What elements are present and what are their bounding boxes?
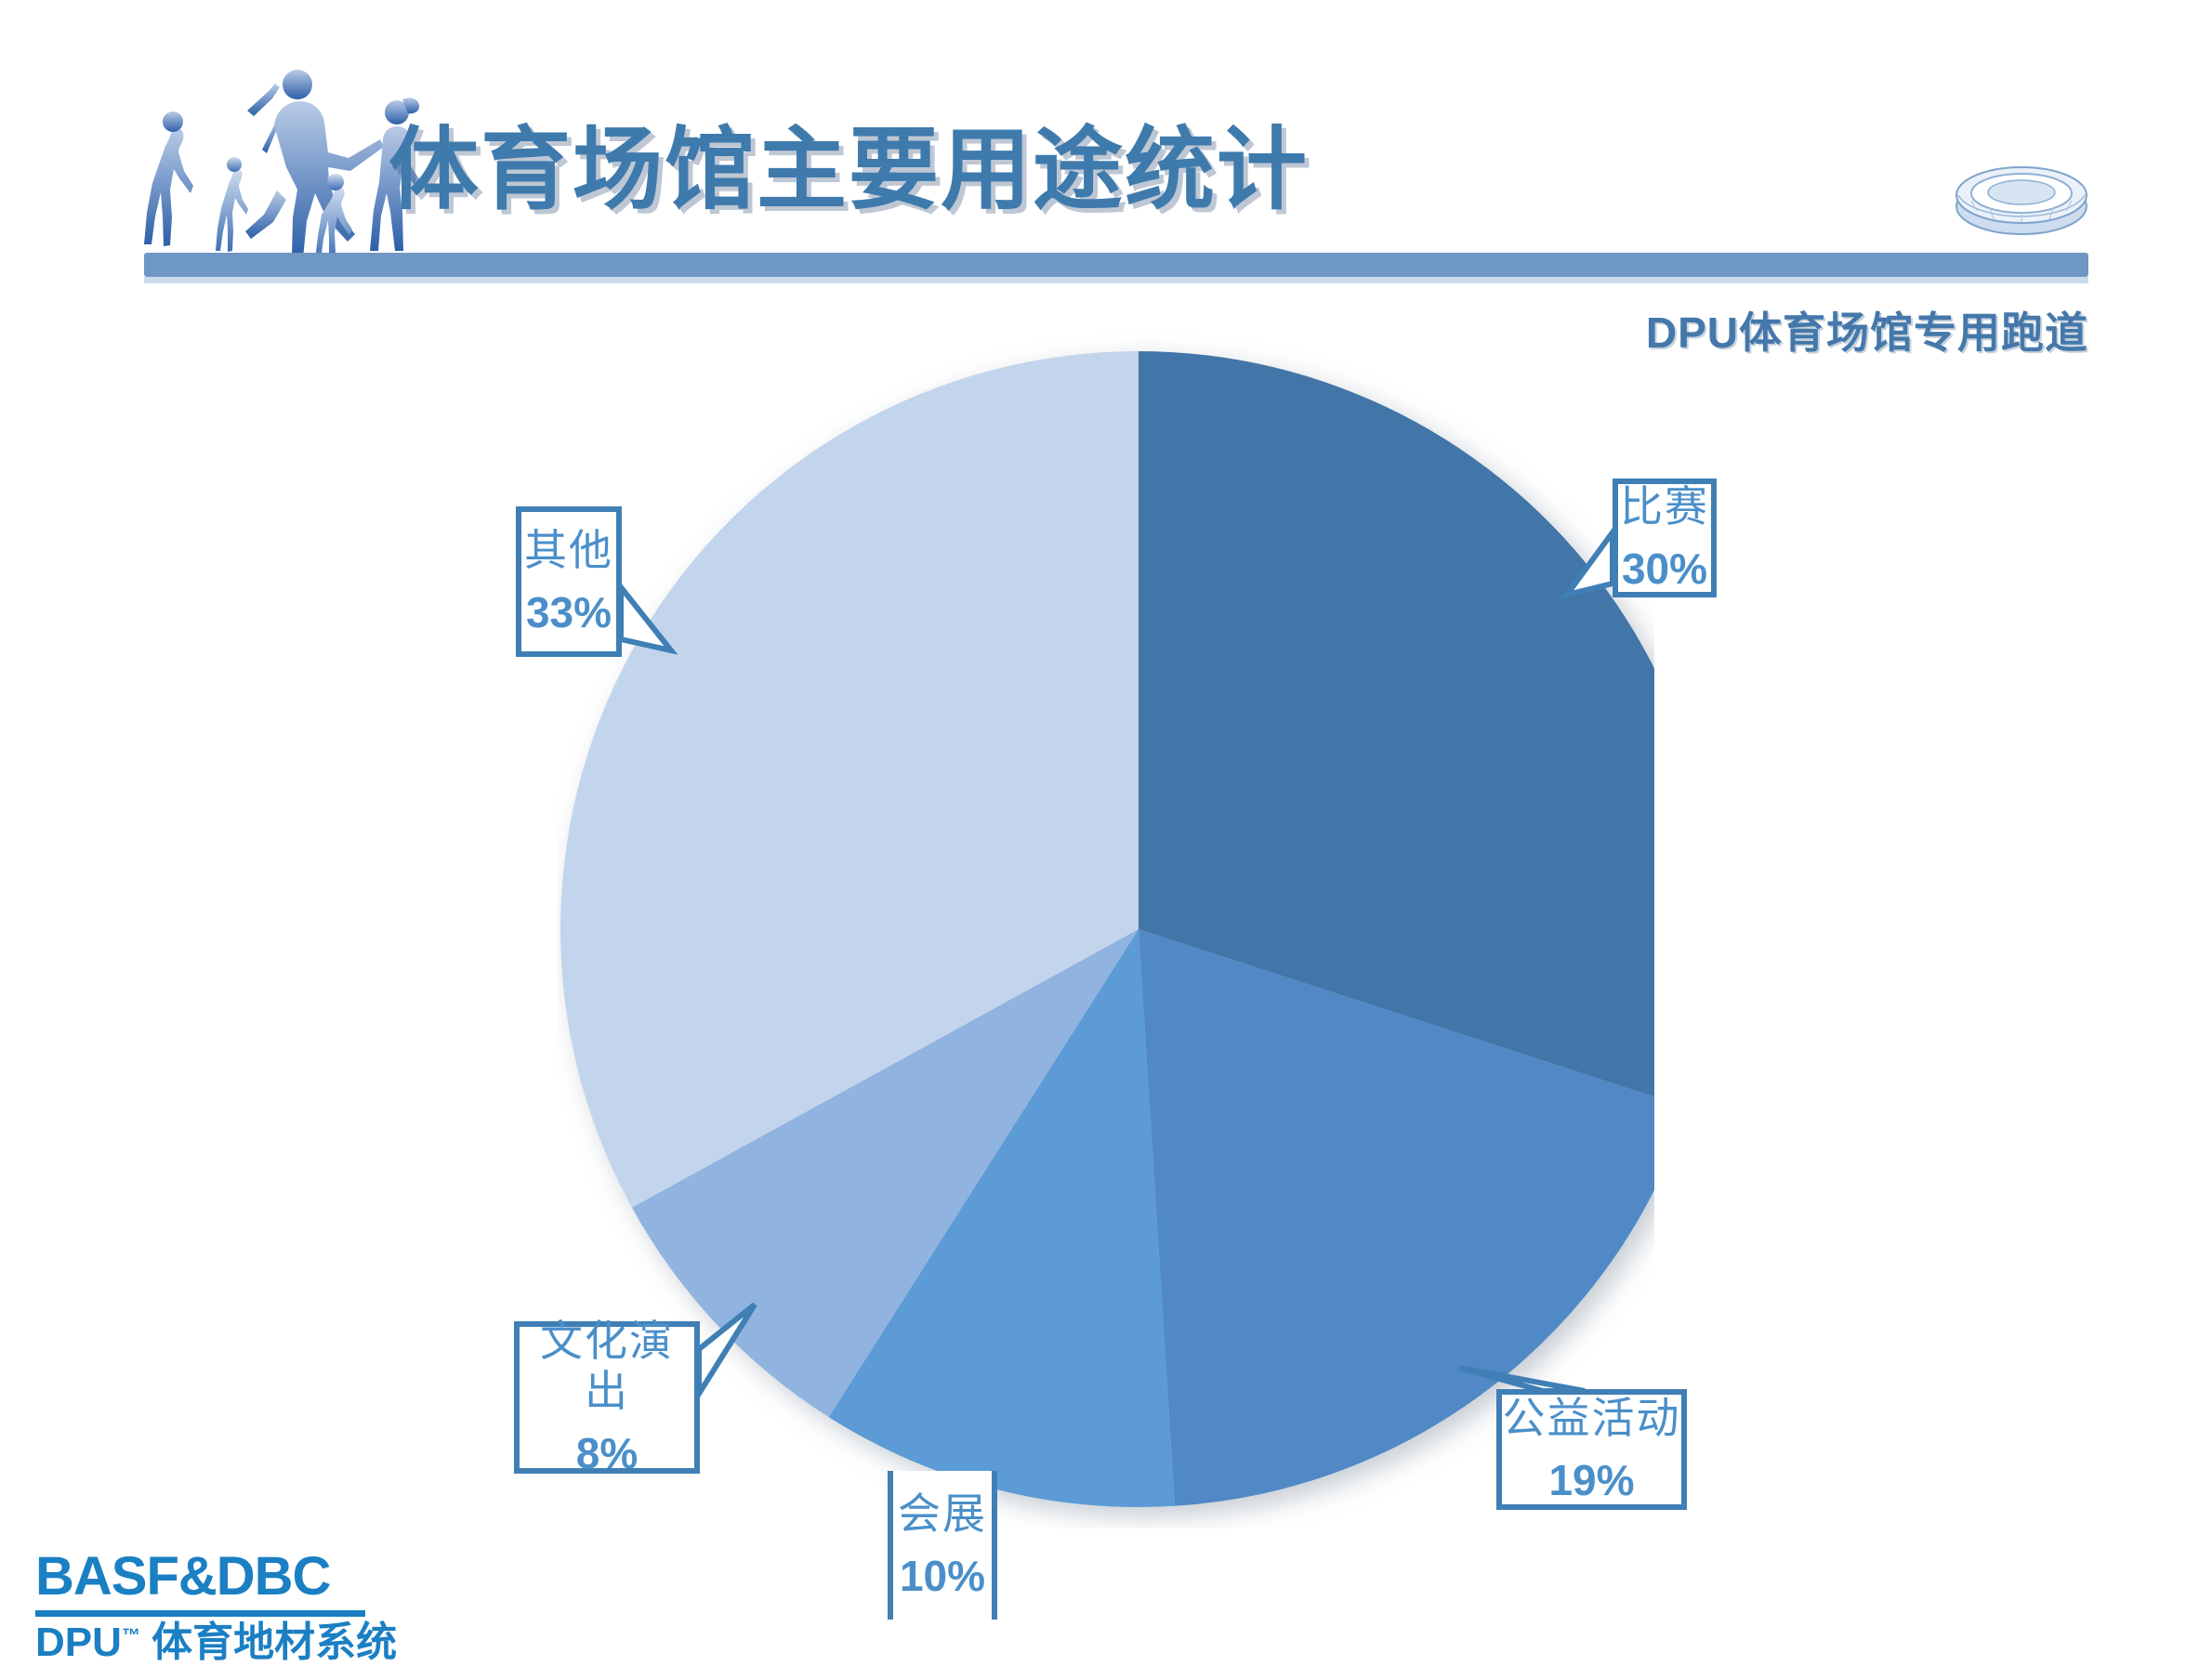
callout-wenhua-label: 文化演出 (520, 1317, 694, 1418)
callout-gongyi-label: 公益活动 (1503, 1394, 1681, 1444)
callout-huizhan-value: 10% (900, 1551, 985, 1601)
stadium-icon (1947, 139, 2096, 242)
logo-sub-cn: 体育地材系统 (151, 1620, 397, 1665)
logo-trademark-symbol: ™ (122, 1625, 140, 1646)
callout-wenhua[interactable]: 文化演出 8% (514, 1321, 700, 1474)
callout-huizhan[interactable]: 会展 10% (888, 1471, 997, 1620)
callout-bisai[interactable]: 比赛 30% (1613, 479, 1717, 597)
header-divider-bar (144, 253, 2088, 277)
callout-bisai-label: 比赛 (1620, 482, 1709, 532)
logo-main-text: BASF&DBC (35, 1550, 407, 1604)
page-title: 体育场馆主要用途统计 (388, 125, 1309, 215)
callout-qita-label: 其他 (524, 526, 613, 576)
brand-logo: BASF&DBC DPU™ 体育地材系统 (35, 1550, 407, 1663)
pie-chart (0, 330, 2212, 1528)
callout-gongyi[interactable]: 公益活动 19% (1496, 1389, 1687, 1510)
page-header: 体育场馆主要用途统计 DPU体育场馆专用跑道 (0, 0, 2212, 372)
callout-qita[interactable]: 其他 33% (516, 506, 622, 657)
callout-gongyi-value: 19% (1548, 1455, 1634, 1505)
pie-chart-svg (558, 330, 1654, 1528)
callout-qita-value: 33% (526, 587, 612, 637)
callout-bisai-value: 30% (1622, 544, 1707, 594)
logo-sub-text: DPU™ 体育地材系统 (35, 1622, 407, 1663)
callout-huizhan-label: 会展 (898, 1489, 987, 1540)
pie-slices (560, 351, 1654, 1507)
logo-divider (35, 1610, 365, 1617)
callout-wenhua-value: 8% (576, 1428, 638, 1478)
logo-sub-brand: DPU (35, 1620, 122, 1665)
